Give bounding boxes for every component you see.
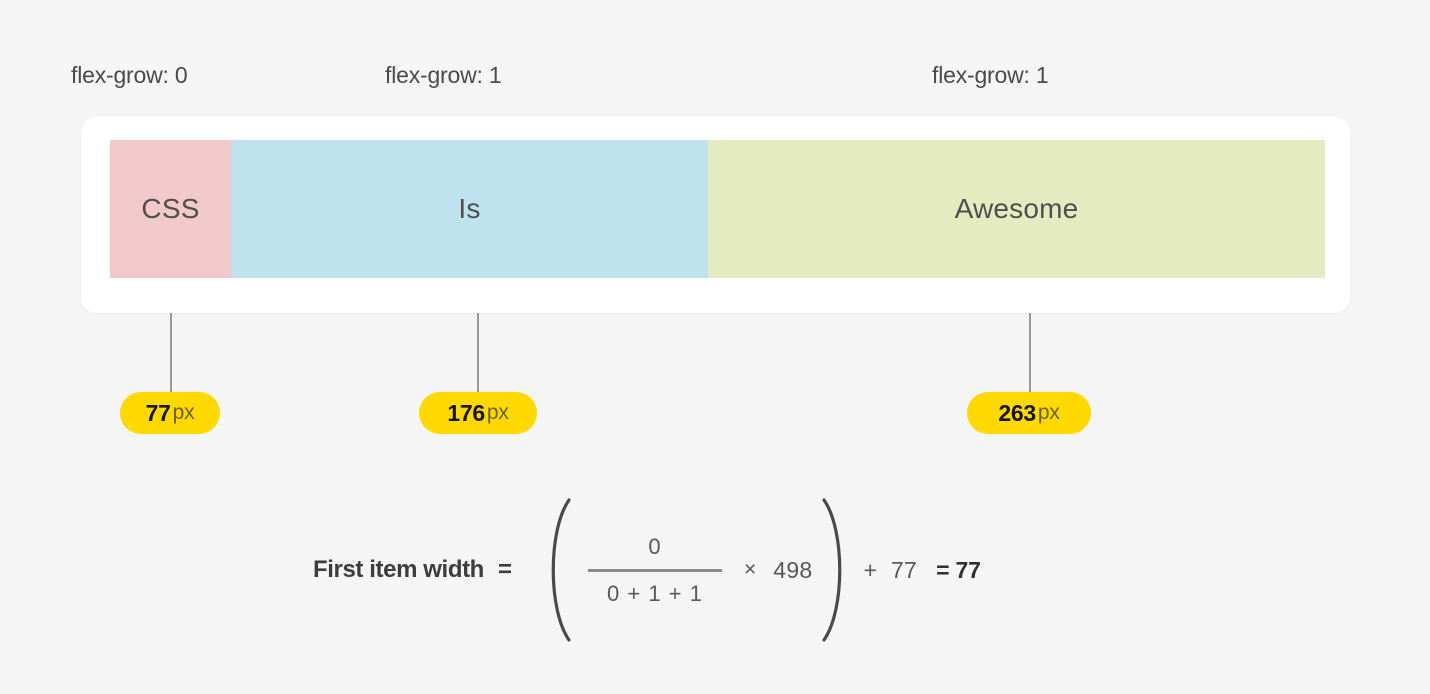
connector-line-item-3 bbox=[1029, 313, 1031, 393]
formula-inner-group: 0 0 + 1 + 1 × 498 bbox=[588, 534, 813, 607]
fraction-numerator: 0 bbox=[648, 534, 661, 560]
flex-item-awesome: Awesome bbox=[708, 140, 1325, 278]
flex-item-css: CSS bbox=[110, 140, 231, 278]
width-badge-item-1: 77 px bbox=[120, 392, 220, 434]
width-badge-value: 263 bbox=[998, 400, 1035, 427]
flex-grow-label-item-2: flex-grow: 1 bbox=[385, 62, 501, 89]
connector-line-item-1 bbox=[170, 313, 172, 393]
grow-ratio-fraction: 0 0 + 1 + 1 bbox=[588, 534, 722, 607]
free-space-value: 498 bbox=[773, 557, 812, 584]
flex-basis-value: 77 bbox=[891, 557, 917, 584]
width-formula: First item width = 0 0 + 1 + 1 × 498 + 7… bbox=[313, 495, 1143, 645]
width-badge-item-3: 263 px bbox=[967, 392, 1091, 434]
formula-result: = 77 bbox=[936, 557, 981, 584]
close-paren-icon bbox=[819, 496, 853, 644]
flex-container: CSS Is Awesome bbox=[110, 140, 1325, 278]
width-badge-value: 77 bbox=[146, 400, 171, 427]
open-paren-icon bbox=[540, 496, 574, 644]
flex-item-label: Is bbox=[458, 193, 480, 225]
fraction-denominator: 0 + 1 + 1 bbox=[607, 581, 703, 607]
width-badge-unit: px bbox=[173, 401, 195, 425]
width-badge-item-2: 176 px bbox=[419, 392, 537, 434]
formula-label: First item width bbox=[313, 556, 484, 584]
flex-container-card: CSS Is Awesome bbox=[81, 117, 1350, 313]
width-badge-unit: px bbox=[1038, 401, 1060, 425]
flex-item-label: Awesome bbox=[955, 193, 1079, 225]
fraction-bar bbox=[588, 569, 722, 572]
connector-line-item-2 bbox=[477, 313, 479, 393]
width-badge-value: 176 bbox=[447, 400, 484, 427]
width-badge-unit: px bbox=[487, 401, 509, 425]
flex-item-label: CSS bbox=[141, 193, 199, 225]
flex-grow-label-item-3: flex-grow: 1 bbox=[932, 62, 1048, 89]
flex-grow-label-item-1: flex-grow: 0 bbox=[71, 62, 187, 89]
plus-operator: + bbox=[864, 557, 877, 584]
multiply-icon: × bbox=[744, 558, 756, 582]
diagram-canvas: flex-grow: 0 flex-grow: 1 flex-grow: 1 C… bbox=[0, 0, 1430, 694]
flex-item-is: Is bbox=[231, 140, 708, 278]
formula-equals-sign: = bbox=[498, 556, 512, 584]
